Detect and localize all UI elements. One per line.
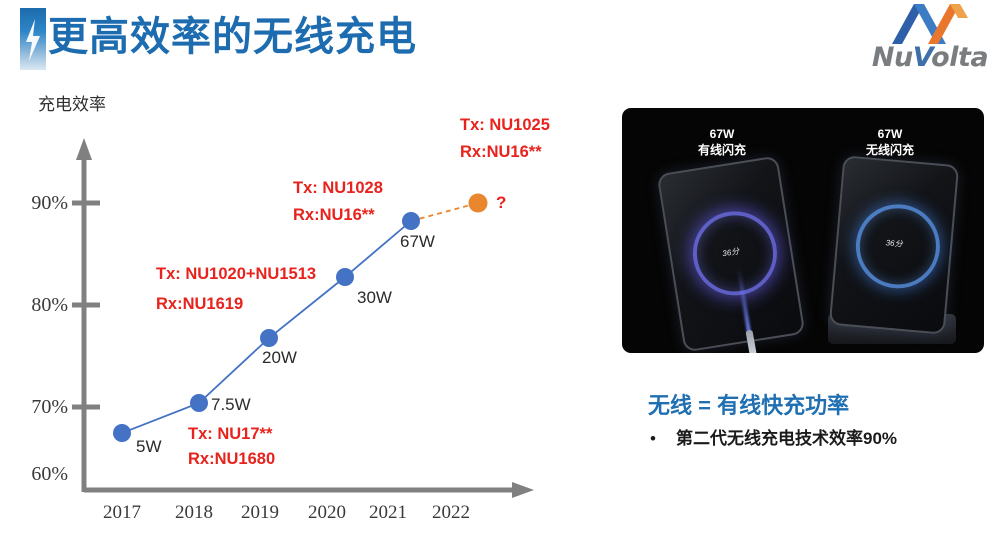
point-label-forecast-unknown: ? [496, 193, 506, 213]
annotation-2021-rx: Rx:NU16** [293, 203, 375, 228]
point-label-7-5w: 7.5W [211, 395, 251, 415]
point-label-30w: 30W [357, 288, 392, 308]
nuvolta-mark-icon [888, 2, 972, 46]
data-point-2022-forecast [469, 194, 488, 213]
nuvolta-wordmark: NuVolta [860, 42, 1000, 73]
title-accent-bar [20, 8, 46, 70]
wordmark-suffix: olta [931, 42, 988, 73]
point-label-5w: 5W [136, 437, 162, 457]
annotation-2018-rx: Rx:NU1680 [188, 447, 275, 472]
point-label-67w: 67W [400, 232, 435, 252]
annotation-2018-tx: Tx: NU17** [188, 422, 272, 447]
annotation-2021-tx: Tx: NU1028 [293, 176, 383, 201]
series-line-forecast [411, 203, 478, 221]
tagline: 无线 = 有线快充功率 [648, 388, 849, 420]
efficiency-chart: 充电效率 90% 80% 70% 60% 2017 2018 2019 2020… [0, 80, 600, 540]
x-axis-arrow [512, 482, 534, 498]
lightning-bolt-icon [23, 18, 43, 62]
x-tick-label-2017: 2017 [92, 502, 152, 524]
brand-logo: NuVolta [860, 2, 1000, 78]
charging-comparison-photo: 36分 36分 67W 有线闪充 67W 无线闪充 [622, 108, 984, 353]
y-axis-arrow [76, 138, 92, 160]
x-tick-label-2019: 2019 [230, 502, 290, 524]
data-point-2020 [336, 268, 354, 286]
x-tick-label-2018: 2018 [164, 502, 224, 524]
phone-caption-wired: 67W 有线闪充 [652, 126, 792, 158]
data-point-2019 [260, 329, 278, 347]
series-line-wireless [122, 221, 411, 433]
y-tick-label-70: 70% [18, 396, 68, 419]
point-label-20w: 20W [262, 348, 297, 368]
wordmark-accent: V [913, 42, 931, 73]
y-tick-label-90: 90% [18, 192, 68, 215]
annotation-2019-tx: Tx: NU1020+NU1513 [156, 262, 316, 287]
x-tick-label-2022: 2022 [421, 502, 481, 524]
data-point-2017 [113, 424, 131, 442]
charge-unit-wireless: 分 [894, 239, 903, 249]
phone-caption-wireless: 67W 无线闪充 [820, 126, 960, 158]
charge-unit-wired: 分 [731, 247, 740, 257]
bullet-list-item: • 第二代无线充电技术效率90% [650, 428, 990, 450]
bullet-text: 第二代无线充电技术效率90% [676, 428, 897, 450]
phone-wireless: 36分 [829, 155, 959, 334]
data-point-2021 [402, 212, 420, 230]
x-tick-label-2020: 2020 [297, 502, 357, 524]
data-point-2018 [190, 394, 208, 412]
phone-wired: 36分 [657, 156, 806, 353]
y-tick-label-80: 80% [18, 294, 68, 317]
slide-header: 更高效率的无线充电 [0, 0, 1006, 80]
y-tick-label-60: 60% [18, 463, 68, 486]
bullet-marker-icon: • [650, 428, 676, 450]
annotation-2022-tx: Tx: NU1025 [460, 113, 550, 138]
annotation-2019-rx: Rx:NU1619 [156, 292, 243, 317]
annotation-2022-rx: Rx:NU16** [460, 140, 542, 165]
page-title: 更高效率的无线充电 [48, 8, 417, 66]
wordmark-prefix: Nu [872, 42, 913, 73]
x-tick-label-2021: 2021 [358, 502, 418, 524]
